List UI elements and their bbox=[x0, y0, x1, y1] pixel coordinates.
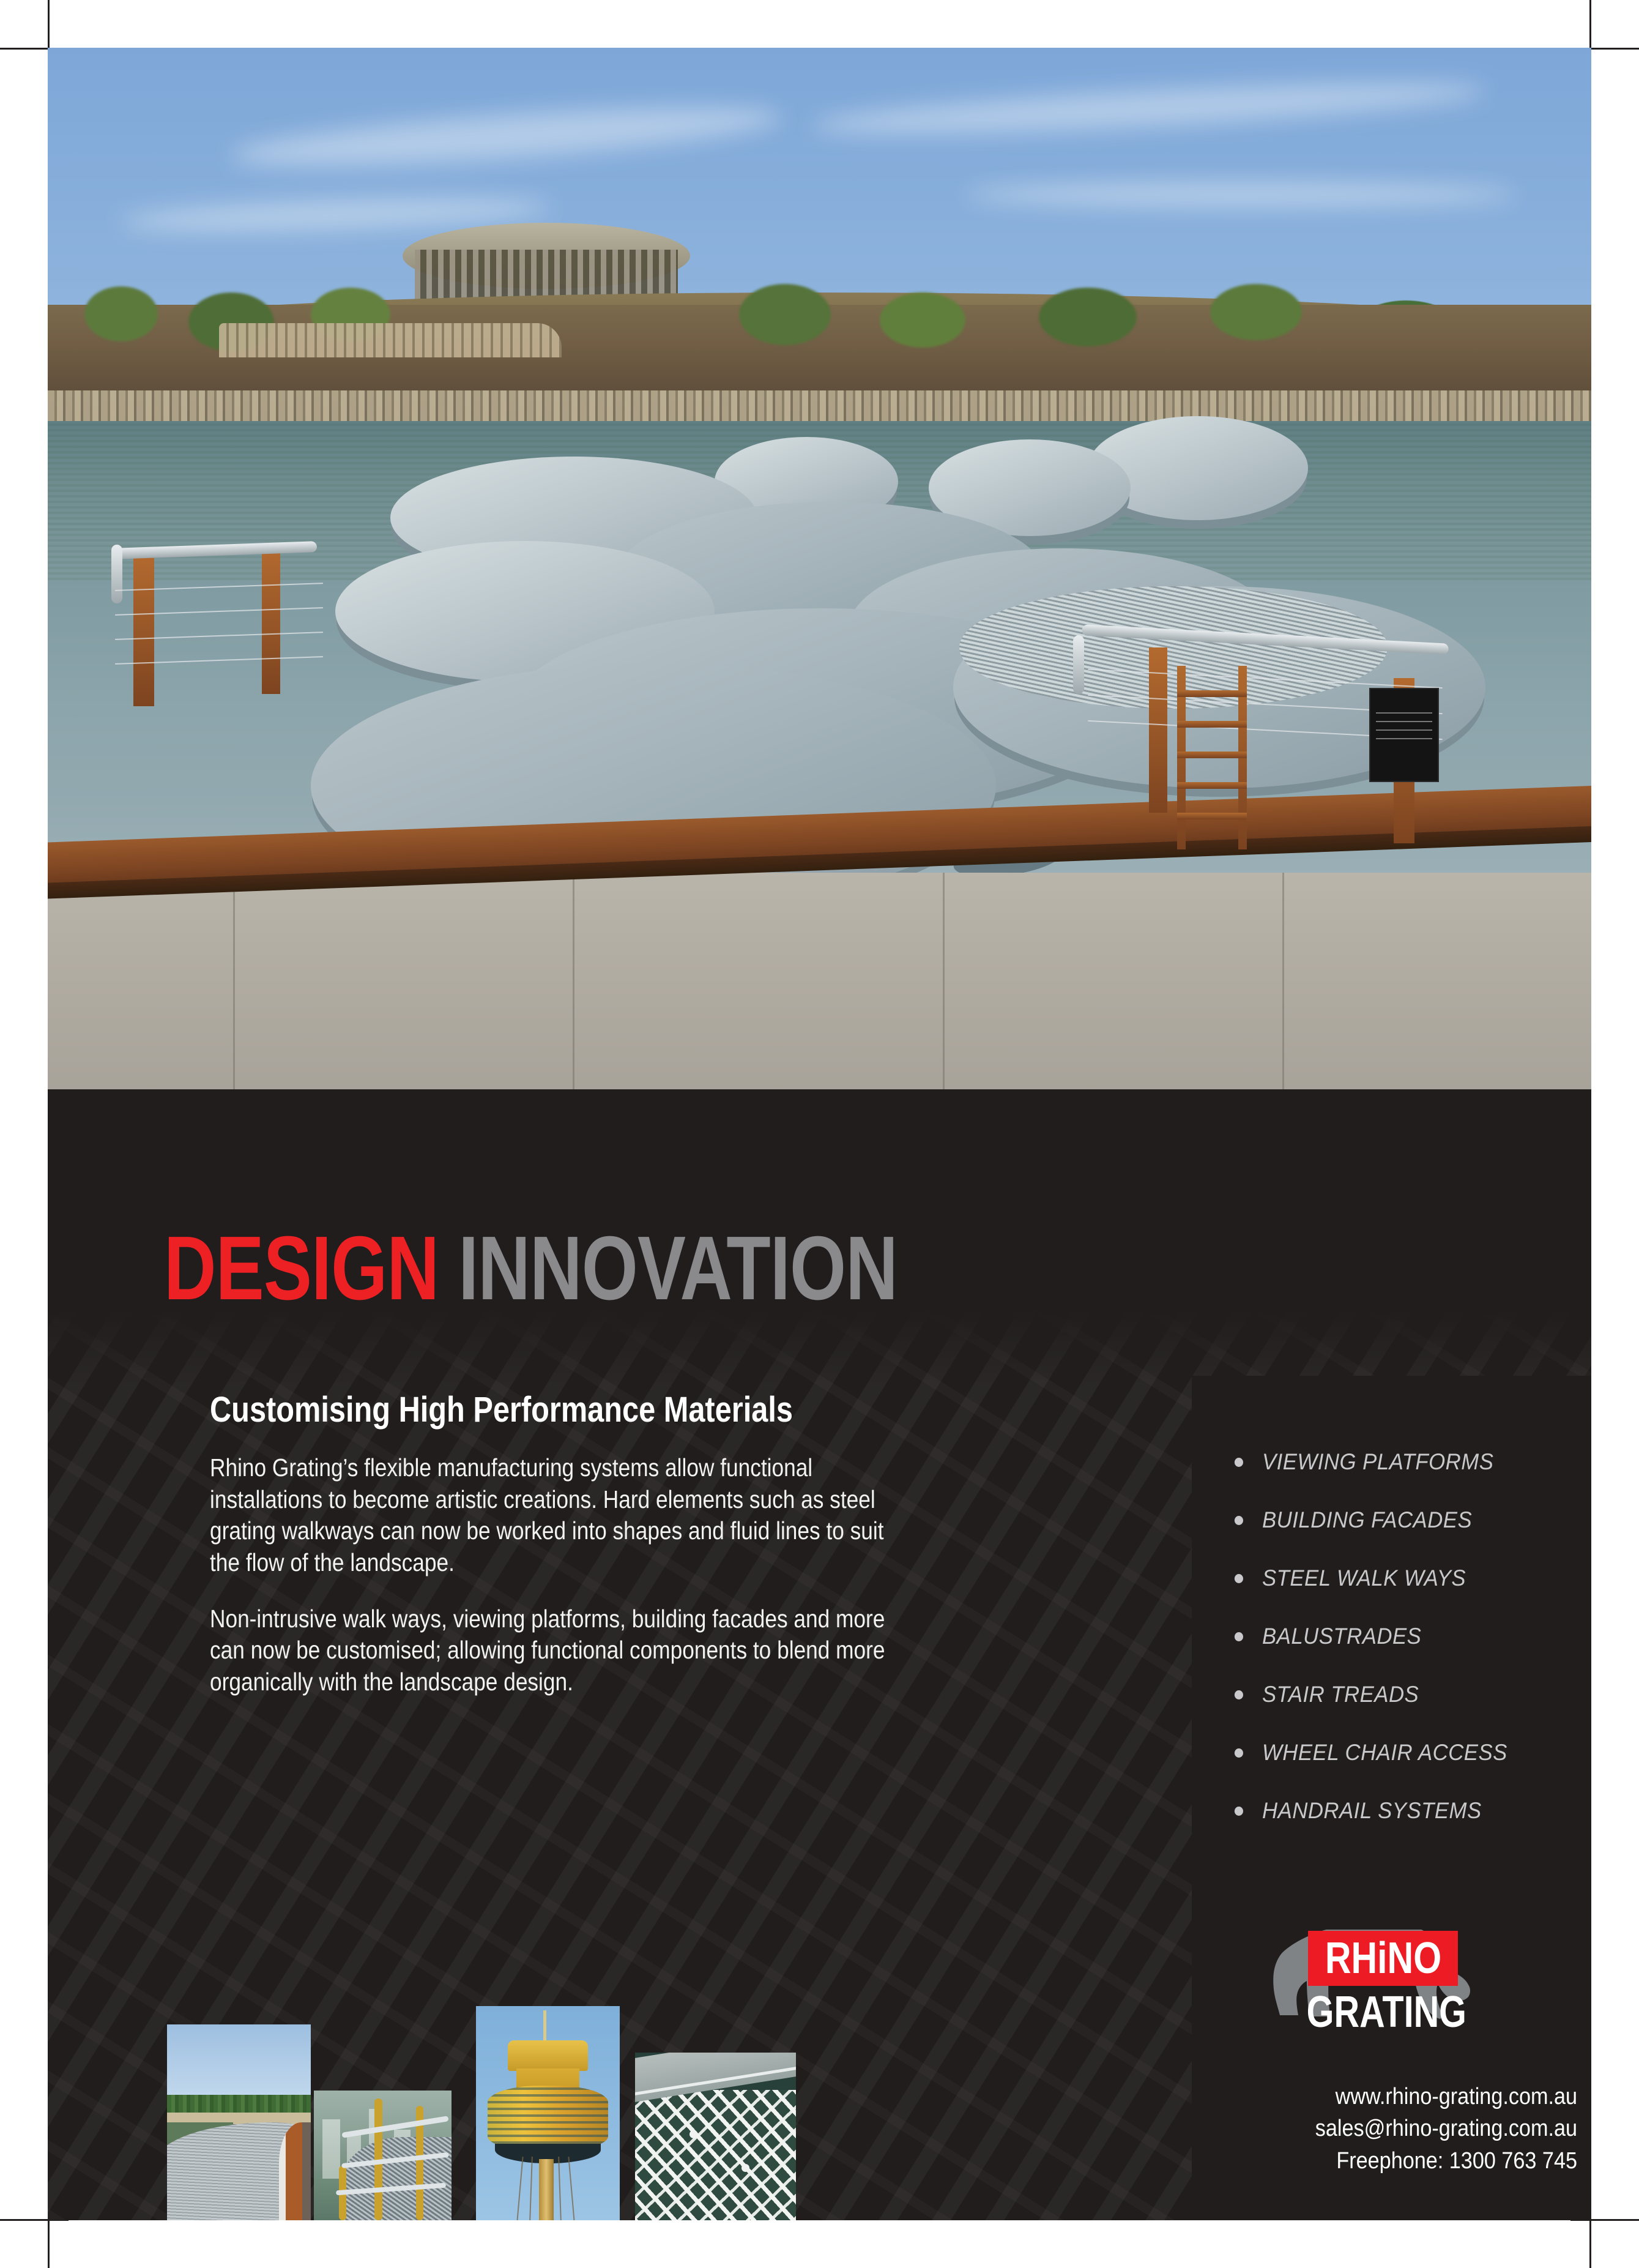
brochure-page: DESIGN INNOVATION Customising High Perfo… bbox=[48, 48, 1591, 2220]
thumb-corten-kerb bbox=[279, 2122, 311, 2220]
ladder-rung bbox=[1177, 721, 1247, 728]
page-title: DESIGN INNOVATION bbox=[164, 1223, 898, 1314]
thumbnail-yellow-handrail-platform bbox=[314, 2091, 452, 2220]
upper-retaining-posts bbox=[219, 323, 562, 357]
ladder-rung bbox=[1177, 690, 1247, 697]
logo-word-rhino: RHiNO bbox=[1325, 1936, 1441, 1980]
lead-copy-block: Customising High Performance Materials R… bbox=[210, 1392, 907, 1723]
thumbnail-sydney-amp-tower bbox=[476, 2006, 620, 2220]
thumb-building bbox=[322, 2119, 340, 2179]
list-item: HANDRAIL SYSTEMS bbox=[1262, 1799, 1584, 1822]
handrail-return bbox=[1073, 635, 1084, 694]
title-word-design: DESIGN bbox=[164, 1218, 439, 1319]
hero-photo bbox=[48, 48, 1591, 1089]
sign-text-line bbox=[1376, 729, 1432, 731]
capabilities-list: VIEWING PLATFORMS BUILDING FACADES STEEL… bbox=[1262, 1450, 1591, 1857]
thumb-fixing-stud bbox=[741, 2164, 749, 2172]
rhino-grating-logo: RHiNO GRATING bbox=[1271, 1925, 1534, 2047]
texture-fade bbox=[48, 1310, 1591, 1383]
ladder-rung bbox=[1177, 813, 1247, 819]
capabilities-list-items: VIEWING PLATFORMS BUILDING FACADES STEEL… bbox=[1262, 1450, 1591, 1822]
paving-seam bbox=[943, 873, 945, 1089]
shrub bbox=[1210, 284, 1302, 340]
cloud bbox=[965, 182, 1516, 207]
sign-text-line bbox=[1376, 721, 1432, 722]
logo-red-box: RHiNO bbox=[1308, 1931, 1458, 1986]
ladder-rung bbox=[1177, 782, 1247, 789]
contact-block: www.rhino-grating.com.au sales@rhino-gra… bbox=[1210, 2081, 1577, 2177]
sign-text-line bbox=[1376, 738, 1432, 739]
paving-seam bbox=[1282, 873, 1284, 1089]
phone-number: Freephone: 1300 763 745 bbox=[1247, 2145, 1577, 2177]
logo-word-grating: GRATING bbox=[1306, 1990, 1466, 2034]
paving-seam bbox=[573, 873, 574, 1089]
content-panel: DESIGN INNOVATION Customising High Perfo… bbox=[48, 1089, 1591, 2220]
list-item: WHEEL CHAIR ACCESS bbox=[1262, 1741, 1584, 1764]
list-item: STEEL WALK WAYS bbox=[1262, 1567, 1584, 1589]
tower-turret bbox=[508, 2040, 589, 2070]
section-heading: Customising High Performance Materials bbox=[210, 1392, 796, 1428]
logo-word-grating-wrap: GRATING bbox=[1307, 1986, 1466, 2039]
foreground-paving bbox=[48, 873, 1591, 1089]
balustrade-post bbox=[133, 553, 154, 706]
balustrade-post bbox=[262, 547, 280, 694]
tower-shaft bbox=[539, 2159, 554, 2220]
sign-text-line bbox=[1376, 712, 1432, 714]
paving-seam bbox=[233, 873, 235, 1089]
email-address[interactable]: sales@rhino-grating.com.au bbox=[1247, 2113, 1577, 2144]
title-word-innovation: INNOVATION bbox=[458, 1218, 898, 1319]
information-sign bbox=[1369, 688, 1439, 782]
lead-paragraph-2: Non-intrusive walk ways, viewing platfor… bbox=[210, 1603, 905, 1698]
list-item: BALUSTRADES bbox=[1262, 1625, 1584, 1647]
lead-paragraph-1: Rhino Grating’s flexible manufacturing s… bbox=[210, 1452, 905, 1579]
thumbnail-white-steel-grating bbox=[635, 2053, 796, 2220]
shrub bbox=[739, 284, 831, 345]
handrail-return bbox=[111, 545, 122, 603]
list-item: BUILDING FACADES bbox=[1262, 1509, 1584, 1531]
ladder-rung bbox=[1177, 752, 1247, 758]
shrub bbox=[1039, 288, 1137, 346]
shrub bbox=[880, 293, 965, 348]
tower-observation-drum bbox=[488, 2086, 608, 2150]
thumbnail-curved-grating-walkway bbox=[167, 2024, 311, 2220]
thumb-treeline bbox=[167, 2095, 311, 2114]
list-item: STAIR TREADS bbox=[1262, 1683, 1584, 1706]
website-url[interactable]: www.rhino-grating.com.au bbox=[1247, 2081, 1577, 2113]
list-item: VIEWING PLATFORMS bbox=[1262, 1450, 1584, 1473]
thumb-grating-mesh bbox=[635, 2090, 796, 2220]
shrub bbox=[84, 286, 158, 341]
